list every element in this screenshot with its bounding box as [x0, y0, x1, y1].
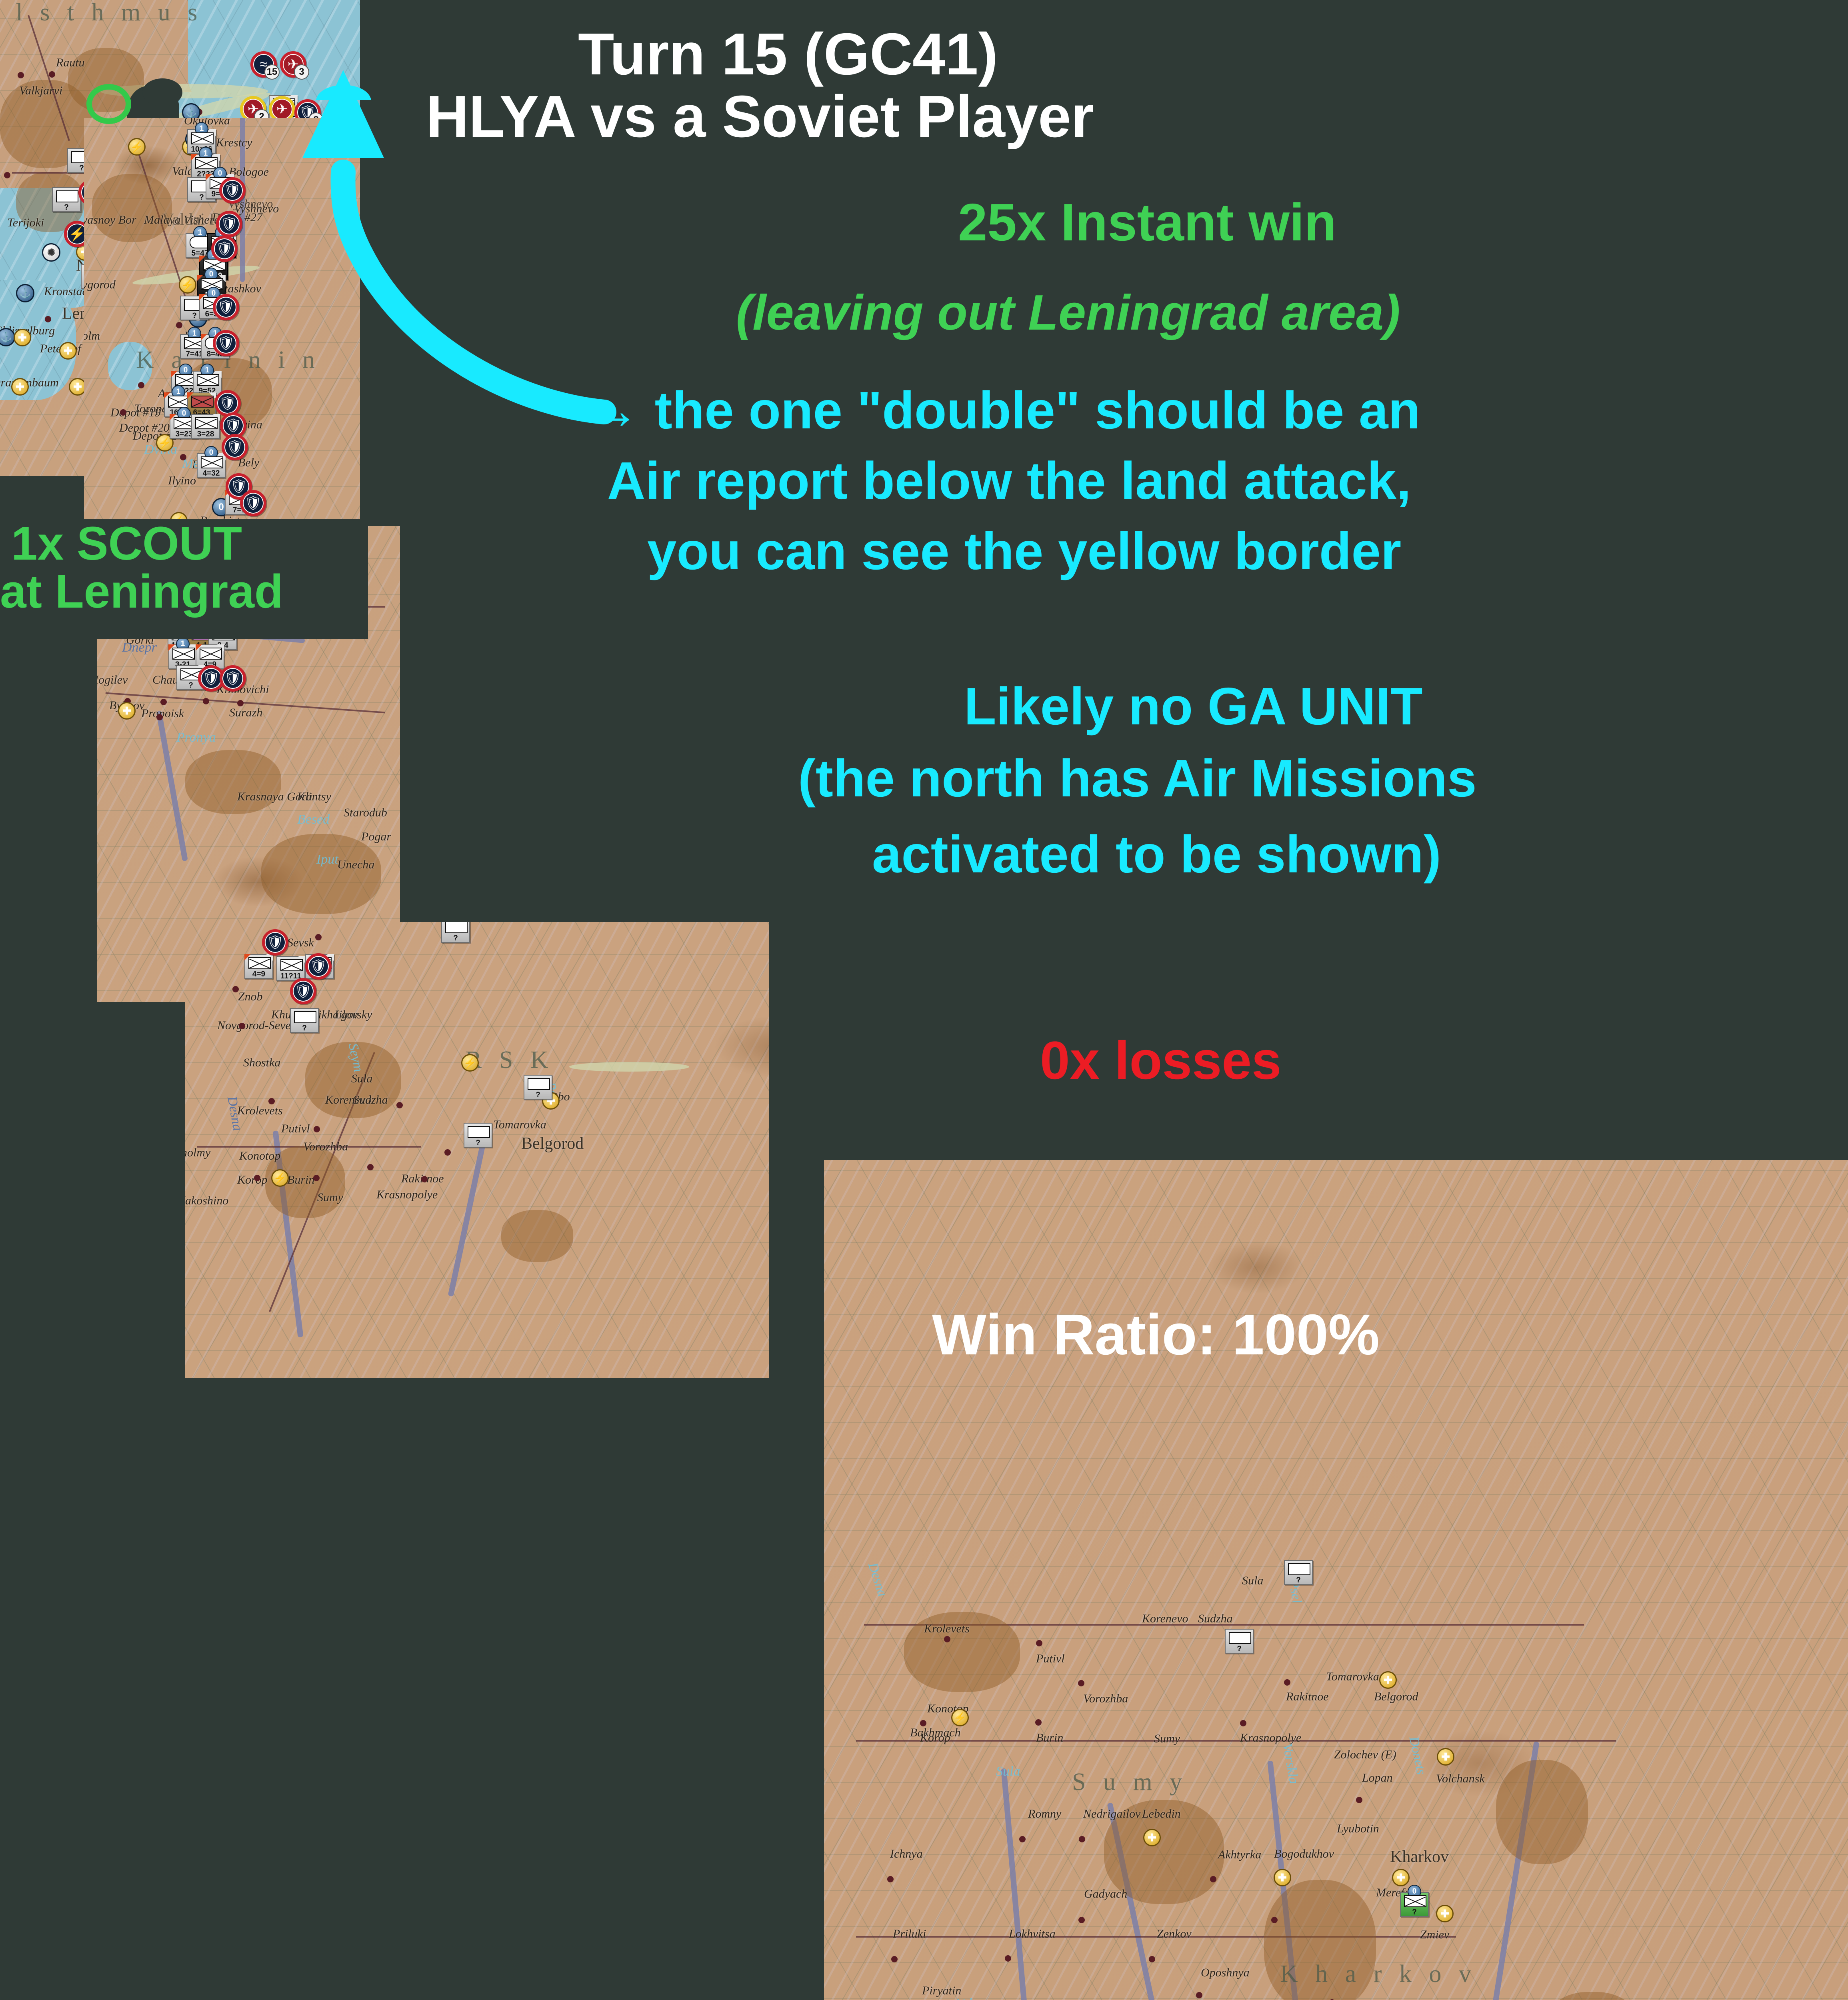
double-note-line-2: Air report below the land attack,: [607, 454, 1411, 507]
ga-unit-line-2: (the north has Air Missions: [798, 752, 1477, 805]
page-title-line-1: Turn 15 (GC41): [578, 25, 998, 84]
ga-unit-line-1: Likely no GA UNIT: [964, 680, 1423, 733]
ga-unit-line-3: activated to be shown): [872, 828, 1441, 881]
scout-line-2: at Leningrad: [0, 568, 283, 615]
double-note-line-3: you can see the yellow border: [647, 525, 1401, 578]
instant-win-note: (leaving out Leningrad area): [736, 288, 1400, 338]
win-ratio-label: Win Ratio: 100%: [932, 1306, 1380, 1364]
double-note-line-1: → the one "double" should be an: [587, 384, 1420, 437]
page-title-line-2: HLYA vs a Soviet Player: [426, 87, 1094, 146]
annotated-game-map-screenshot: Rautu Valkjarvi Terijoki Kronstadt Lenin…: [0, 0, 1848, 2000]
instant-win-label: 25x Instant win: [958, 196, 1336, 249]
losses-label: 0x losses: [1040, 1034, 1281, 1088]
scout-line-1: 1x SCOUT: [11, 520, 242, 567]
